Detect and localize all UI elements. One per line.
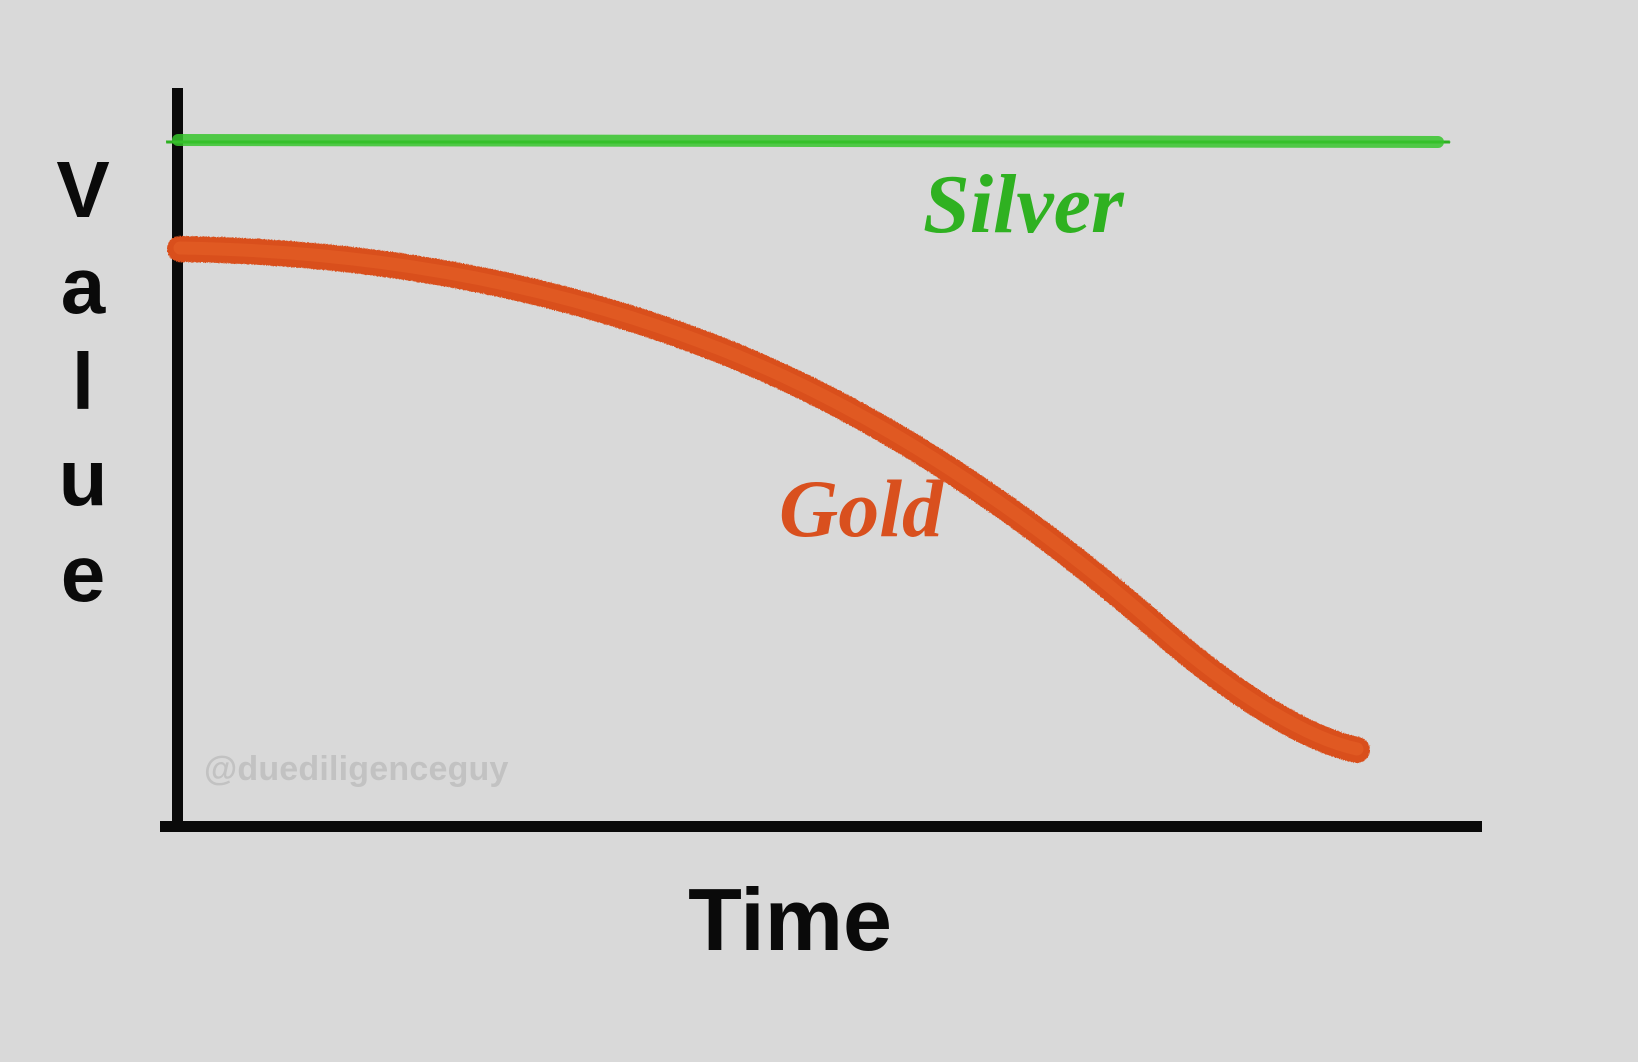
series-line-gold: [180, 248, 1357, 750]
series-label-gold: Gold: [779, 468, 943, 550]
y-axis-title: V a l u e: [40, 142, 126, 622]
y-axis-title-letter: u: [59, 430, 108, 526]
y-axis-title-letter: a: [61, 238, 106, 334]
y-axis-title-letter: l: [72, 334, 94, 430]
series-line-silver: [178, 140, 1438, 143]
y-axis-line: [172, 88, 183, 830]
y-axis-title-letter: V: [56, 142, 109, 238]
series-label-silver: Silver: [923, 163, 1124, 247]
watermark-handle: @duediligenceguy: [204, 752, 509, 786]
y-axis-title-letter: e: [61, 526, 106, 622]
chart-canvas: Silver Gold V a l u e Time @duediligence…: [0, 0, 1638, 1062]
x-axis-title: Time: [0, 876, 1580, 964]
x-axis-line: [160, 821, 1482, 832]
